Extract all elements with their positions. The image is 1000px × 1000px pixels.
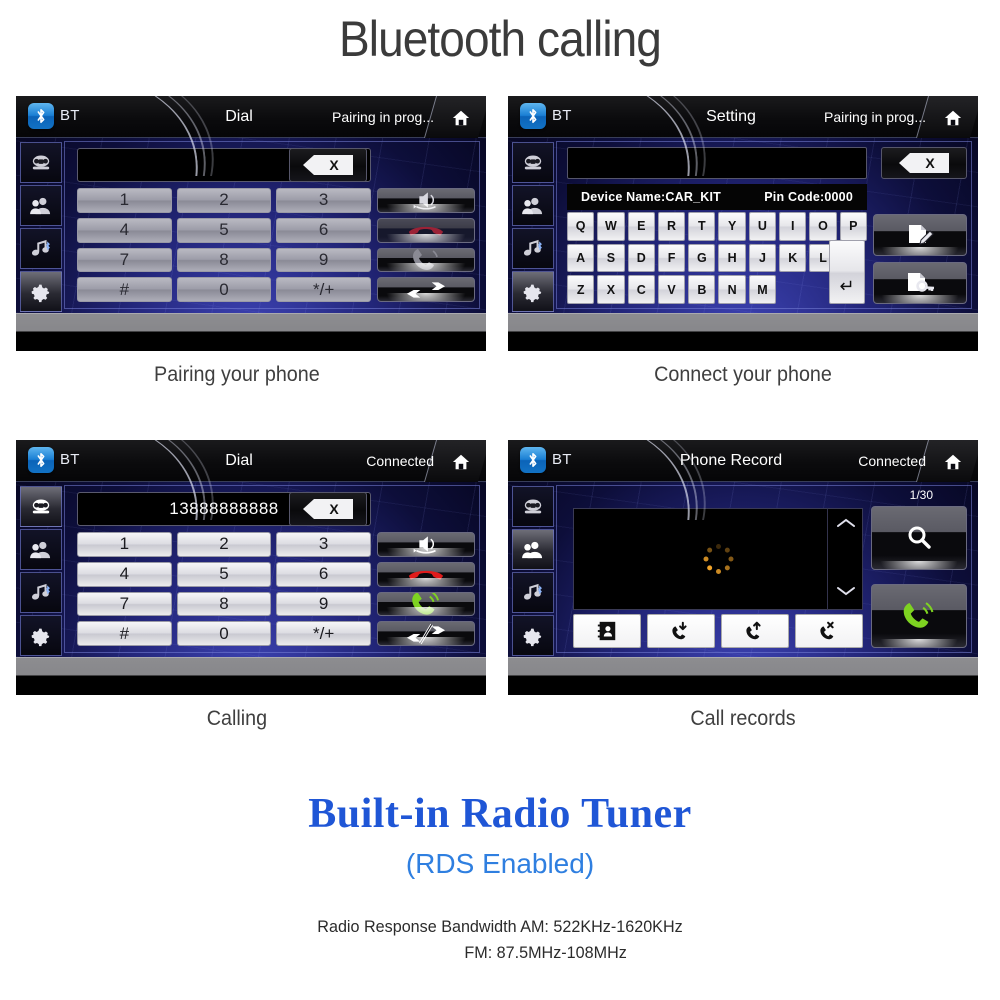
- outgoing-call-icon[interactable]: [721, 614, 789, 648]
- speaker-transfer-icon[interactable]: [377, 188, 475, 213]
- device-screen: BT Phone Record Connected: [508, 440, 978, 657]
- sidebar-item-contacts[interactable]: [512, 185, 554, 226]
- sidebar-item-settings[interactable]: [512, 271, 554, 312]
- missed-call-icon[interactable]: [795, 614, 863, 648]
- key[interactable]: 6: [276, 562, 371, 587]
- kb-key[interactable]: D: [628, 244, 655, 273]
- kb-key[interactable]: N: [718, 275, 745, 304]
- device-bezel: [16, 313, 486, 351]
- kb-key[interactable]: H: [718, 244, 745, 273]
- kb-key[interactable]: S: [597, 244, 624, 273]
- chevron-down-icon[interactable]: [836, 584, 856, 602]
- key[interactable]: */+: [276, 277, 371, 302]
- kb-key[interactable]: C: [628, 275, 655, 304]
- key[interactable]: 4: [77, 218, 172, 243]
- search-icon[interactable]: [871, 506, 967, 570]
- radio-title: Built-in Radio Tuner: [0, 790, 1000, 838]
- hangup-icon[interactable]: [377, 218, 475, 243]
- key[interactable]: 0: [177, 277, 272, 302]
- bluetooth-icon: [28, 447, 54, 473]
- key[interactable]: 3: [276, 188, 371, 213]
- bluetooth-label: BT: [552, 451, 572, 468]
- keyboard-row: Z X C V B N M: [567, 275, 867, 304]
- connection-status: Pairing in prog...: [332, 109, 434, 125]
- sidebar-item-settings[interactable]: [20, 615, 62, 656]
- records-actions: [871, 506, 967, 648]
- sidebar: [20, 486, 62, 657]
- call-actions: [377, 188, 475, 302]
- setting-actions: [873, 214, 967, 304]
- sidebar-item-phone[interactable]: [512, 142, 554, 183]
- sidebar-item-music[interactable]: [20, 228, 62, 269]
- bluetooth-label: BT: [60, 451, 80, 468]
- panel-calling: BT Dial Connected: [16, 440, 486, 731]
- sidebar: [512, 142, 554, 313]
- speaker-transfer-icon[interactable]: [377, 532, 475, 557]
- panel-pairing: BT Dial Pairing in prog...: [16, 96, 486, 387]
- sidebar-item-phone[interactable]: [512, 486, 554, 527]
- kb-key[interactable]: I: [779, 212, 806, 241]
- records-list[interactable]: [573, 508, 863, 610]
- sidebar: [20, 142, 62, 313]
- backspace-icon: X: [899, 153, 949, 173]
- panel-caption: Calling: [30, 707, 472, 731]
- bluetooth-label: BT: [60, 107, 80, 124]
- radio-spec-am: Radio Response Bandwidth AM: 522KHz-1620…: [25, 914, 975, 940]
- pin-code-label: Pin Code:0000: [764, 190, 853, 204]
- kb-key[interactable]: W: [597, 212, 624, 241]
- bluetooth-icon: [28, 103, 54, 129]
- home-icon[interactable]: [936, 448, 970, 476]
- incoming-call-icon[interactable]: [647, 614, 715, 648]
- bluetooth-icon: [520, 103, 546, 129]
- key[interactable]: 2: [177, 532, 272, 557]
- kb-key[interactable]: M: [749, 275, 776, 304]
- sidebar-item-contacts[interactable]: [20, 185, 62, 226]
- key[interactable]: 1: [77, 532, 172, 557]
- sidebar-item-settings[interactable]: [512, 615, 554, 656]
- device-unit: BT Phone Record Connected: [508, 440, 978, 695]
- device-screen: BT Dial Pairing in prog...: [16, 96, 486, 313]
- hangup-icon[interactable]: [377, 562, 475, 587]
- key[interactable]: 5: [177, 562, 272, 587]
- key[interactable]: 1: [77, 188, 172, 213]
- key[interactable]: 0: [177, 621, 272, 646]
- kb-key[interactable]: Q: [567, 212, 594, 241]
- page-title: Bluetooth calling: [40, 0, 960, 64]
- page-root: Bluetooth calling BT Dial Pairing in pro…: [0, 0, 1000, 1000]
- edit-name-icon[interactable]: [873, 214, 967, 256]
- device-bezel: [16, 657, 486, 695]
- kb-key[interactable]: B: [688, 275, 715, 304]
- device-unit: BT Dial Connected: [16, 440, 486, 695]
- backspace-icon: X: [303, 155, 353, 175]
- kb-key[interactable]: E: [628, 212, 655, 241]
- kb-key[interactable]: U: [749, 212, 776, 241]
- key[interactable]: #: [77, 277, 172, 302]
- key[interactable]: */+: [276, 621, 371, 646]
- sidebar-item-settings[interactable]: [20, 271, 62, 312]
- connection-status: Pairing in prog...: [824, 109, 926, 125]
- panel-caption: Call records: [522, 707, 964, 731]
- device-bezel: [508, 313, 978, 351]
- backspace-button[interactable]: X: [289, 492, 367, 526]
- kb-key[interactable]: Z: [567, 275, 594, 304]
- panel-caption: Connect your phone: [522, 363, 964, 387]
- device-unit: BT Setting Pairing in prog...: [508, 96, 978, 351]
- kb-key[interactable]: Y: [718, 212, 745, 241]
- key[interactable]: 9: [276, 592, 371, 617]
- sidebar-item-music[interactable]: [20, 572, 62, 613]
- record-filter-tabs: [573, 614, 863, 648]
- page-counter: 1/30: [910, 488, 933, 502]
- backspace-button[interactable]: X: [289, 148, 367, 182]
- radio-specs: Radio Response Bandwidth AM: 522KHz-1620…: [0, 914, 1000, 967]
- sidebar-item-contacts[interactable]: [512, 529, 554, 570]
- home-icon[interactable]: [444, 104, 478, 132]
- sidebar-item-phone[interactable]: [20, 142, 62, 183]
- backspace-button[interactable]: X: [881, 147, 967, 179]
- kb-key[interactable]: O: [809, 212, 836, 241]
- answer-icon[interactable]: [377, 248, 475, 273]
- device-screen: BT Setting Pairing in prog...: [508, 96, 978, 313]
- kb-key-blank: [779, 275, 806, 304]
- kb-key[interactable]: K: [779, 244, 806, 273]
- answer-icon[interactable]: [377, 592, 475, 617]
- device-screen: BT Dial Connected: [16, 440, 486, 657]
- key[interactable]: #: [77, 621, 172, 646]
- kb-key[interactable]: F: [658, 244, 685, 273]
- keyboard: Q W E R T Y U I O P: [567, 212, 867, 304]
- key[interactable]: 7: [77, 592, 172, 617]
- key[interactable]: 3: [276, 532, 371, 557]
- keypad: 1 2 3 4 5 6 7 8 9 # 0 */+: [77, 188, 371, 302]
- keyboard-row: A S D F G H J K L: [567, 244, 867, 273]
- chevron-up-icon[interactable]: [836, 516, 856, 534]
- pairing-info: Device Name:CAR_KIT Pin Code:0000: [567, 184, 867, 210]
- swap-arrows-icon[interactable]: [377, 277, 475, 302]
- kb-key[interactable]: X: [597, 275, 624, 304]
- kb-key[interactable]: R: [658, 212, 685, 241]
- connection-status: Connected: [366, 453, 434, 469]
- backspace-icon: X: [303, 499, 353, 519]
- panel-caption: Pairing your phone: [30, 363, 472, 387]
- key[interactable]: 8: [177, 248, 272, 273]
- sidebar: [512, 486, 554, 657]
- phonebook-icon[interactable]: [573, 614, 641, 648]
- radio-section: Built-in Radio Tuner (RDS Enabled) Radio…: [0, 790, 1000, 967]
- kb-key[interactable]: T: [688, 212, 715, 241]
- answer-icon[interactable]: [871, 584, 967, 648]
- home-icon[interactable]: [936, 104, 970, 132]
- keyboard-row: Q W E R T Y U I O P: [567, 212, 867, 241]
- call-actions: [377, 532, 475, 646]
- keypad: 1 2 3 4 5 6 7 8 9 # 0 */+: [77, 532, 371, 646]
- kb-key[interactable]: J: [749, 244, 776, 273]
- key[interactable]: 9: [276, 248, 371, 273]
- home-icon[interactable]: [444, 448, 478, 476]
- radio-subtitle: (RDS Enabled): [0, 848, 1000, 880]
- scrollbar[interactable]: [827, 508, 863, 610]
- kb-key[interactable]: P: [840, 212, 867, 241]
- sidebar-item-music[interactable]: [512, 572, 554, 613]
- loading-spinner-icon: [703, 544, 733, 574]
- key[interactable]: 6: [276, 218, 371, 243]
- device-bezel: [508, 657, 978, 695]
- key[interactable]: 2: [177, 188, 272, 213]
- panel-setting: BT Setting Pairing in prog...: [508, 96, 978, 387]
- kb-key[interactable]: V: [658, 275, 685, 304]
- connection-status: Connected: [858, 453, 926, 469]
- kb-key[interactable]: A: [567, 244, 594, 273]
- kb-key[interactable]: G: [688, 244, 715, 273]
- transfer-off-icon[interactable]: [377, 621, 475, 646]
- sidebar-item-music[interactable]: [512, 228, 554, 269]
- enter-key[interactable]: ↵: [829, 240, 865, 304]
- sidebar-item-phone[interactable]: [20, 486, 62, 527]
- device-unit: BT Dial Pairing in prog...: [16, 96, 486, 351]
- panel-records: BT Phone Record Connected: [508, 440, 978, 731]
- key[interactable]: 5: [177, 218, 272, 243]
- key[interactable]: 4: [77, 562, 172, 587]
- edit-pin-icon[interactable]: [873, 262, 967, 304]
- device-name-label: Device Name:CAR_KIT: [581, 190, 721, 204]
- sidebar-item-contacts[interactable]: [20, 529, 62, 570]
- bluetooth-label: BT: [552, 107, 572, 124]
- key[interactable]: 7: [77, 248, 172, 273]
- radio-spec-fm: FM: 87.5MHz-108MHz: [25, 940, 975, 966]
- key[interactable]: 8: [177, 592, 272, 617]
- bluetooth-icon: [520, 447, 546, 473]
